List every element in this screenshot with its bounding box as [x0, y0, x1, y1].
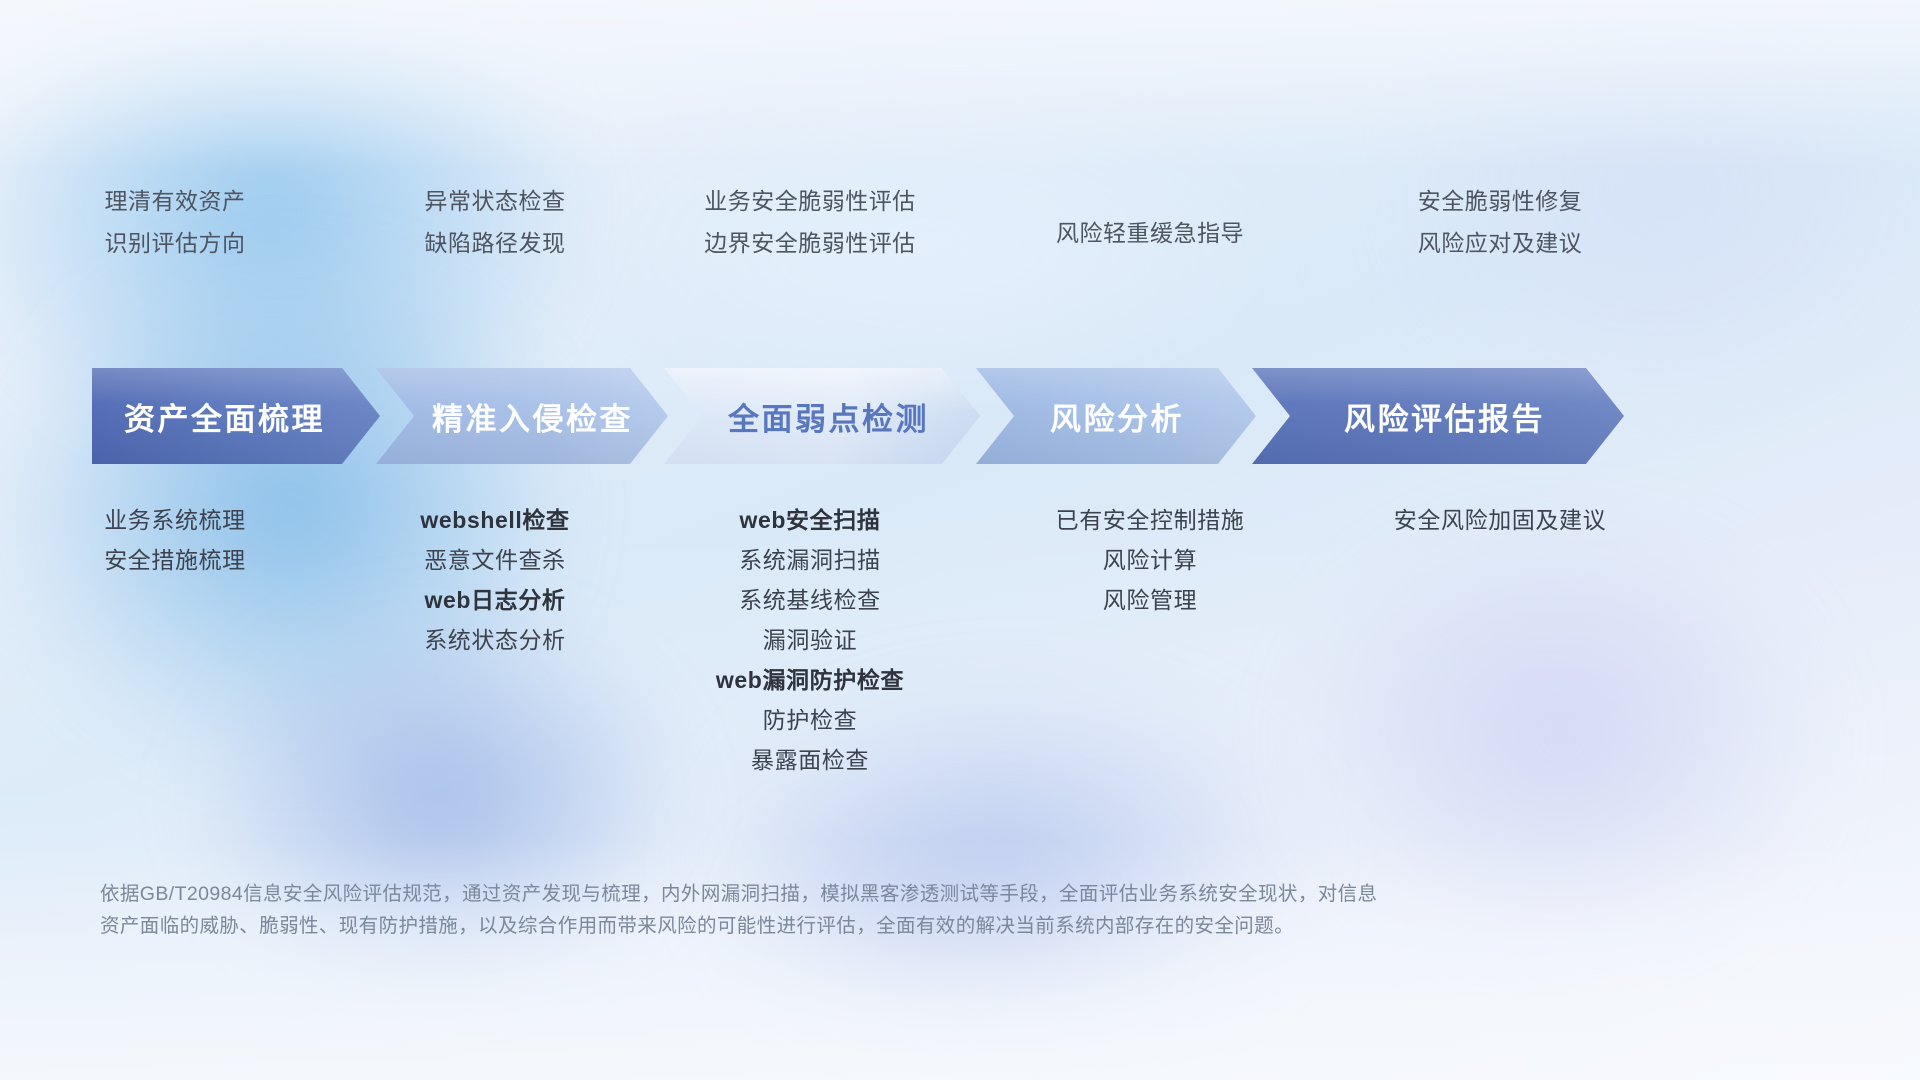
bottom-descriptor-line: 防护检查 [763, 700, 857, 740]
bottom-descriptor-line: 安全风险加固及建议 [1394, 500, 1606, 540]
bottom-descriptor-line: 安全措施梳理 [104, 540, 246, 580]
top-descriptors-stage-5: 安全脆弱性修复 风险应对及建议 [1320, 186, 1680, 258]
top-descriptors-stage-4: 风险轻重缓急指导 [980, 186, 1320, 258]
top-descriptor-line: 风险轻重缓急指导 [1056, 218, 1244, 248]
bottom-descriptors-stage-2: webshell检查 恶意文件查杀 web日志分析 系统状态分析 [350, 500, 640, 660]
stage-arrow-label: 资产全面梳理 [124, 394, 325, 439]
bottom-descriptor-line: webshell检查 [420, 500, 569, 540]
stage-arrow-4[interactable]: 风险分析 [976, 368, 1256, 464]
top-descriptors-stage-2: 异常状态检查 缺陷路径发现 [350, 186, 640, 258]
top-descriptor-line: 风险应对及建议 [1418, 228, 1583, 258]
top-descriptors-stage-3: 业务安全脆弱性评估 边界安全脆弱性评估 [640, 186, 980, 258]
bottom-descriptor-line: 系统漏洞扫描 [739, 540, 881, 580]
bottom-descriptor-line: 风险管理 [1103, 580, 1197, 620]
stage-arrow-label: 精准入侵检查 [432, 394, 633, 439]
top-descriptors-stage-1: 理清有效资产 识别评估方向 [0, 186, 350, 258]
stage-arrow-label: 全面弱点检测 [728, 394, 929, 439]
stage-arrow-label: 风险评估报告 [1344, 394, 1545, 439]
bottom-descriptor-line: web日志分析 [425, 580, 566, 620]
stage-arrow-1[interactable]: 资产全面梳理 [92, 368, 380, 464]
stage-arrow-label: 风险分析 [1050, 394, 1184, 439]
top-descriptor-line: 缺陷路径发现 [425, 228, 566, 258]
top-descriptor-line: 业务安全脆弱性评估 [704, 186, 916, 216]
top-descriptor-row: 理清有效资产 识别评估方向 异常状态检查 缺陷路径发现 业务安全脆弱性评估 边界… [0, 186, 1920, 258]
top-descriptor-line: 异常状态检查 [425, 186, 566, 216]
bottom-descriptors-stage-1: 业务系统梳理 安全措施梳理 [0, 500, 350, 580]
bottom-descriptor-line: 系统状态分析 [424, 620, 566, 660]
stage-arrow-2[interactable]: 精准入侵检查 [376, 368, 668, 464]
bottom-descriptor-line: 已有安全控制措施 [1056, 500, 1245, 540]
footer-description: 依据GB/T20984信息安全风险评估规范，通过资产发现与梳理，内外网漏洞扫描，… [100, 878, 1620, 942]
top-descriptor-line: 理清有效资产 [105, 186, 246, 216]
bottom-descriptor-line: 风险计算 [1103, 540, 1197, 580]
footer-line-1: 依据GB/T20984信息安全风险评估规范，通过资产发现与梳理，内外网漏洞扫描，… [100, 878, 1620, 910]
footer-line-2: 资产面临的威胁、脆弱性、现有防护措施，以及综合作用而带来风险的可能性进行评估，全… [100, 910, 1620, 942]
bottom-descriptor-line: web安全扫描 [740, 500, 881, 540]
bottom-descriptors-stage-5: 安全风险加固及建议 [1320, 500, 1680, 540]
top-descriptor-line: 边界安全脆弱性评估 [704, 228, 916, 258]
bottom-descriptor-line: 系统基线检查 [739, 580, 881, 620]
stage-arrow-5[interactable]: 风险评估报告 [1252, 368, 1624, 464]
bottom-descriptor-line: 业务系统梳理 [104, 500, 246, 540]
stage-arrow-band: 资产全面梳理 精准入侵检查 全面弱点检测 风险分析 风险评估报告 [0, 368, 1920, 464]
top-descriptor-line: 安全脆弱性修复 [1418, 186, 1583, 216]
bottom-descriptor-line: web漏洞防护检查 [716, 660, 904, 700]
bottom-descriptor-row: 业务系统梳理 安全措施梳理 webshell检查 恶意文件查杀 web日志分析 … [0, 500, 1920, 780]
process-diagram: 理清有效资产 识别评估方向 异常状态检查 缺陷路径发现 业务安全脆弱性评估 边界… [0, 0, 1920, 1080]
bottom-descriptors-stage-3: web安全扫描 系统漏洞扫描 系统基线检查 漏洞验证 web漏洞防护检查 防护检… [640, 500, 980, 780]
bottom-descriptor-line: 漏洞验证 [763, 620, 857, 660]
bottom-descriptors-stage-4: 已有安全控制措施 风险计算 风险管理 [980, 500, 1320, 620]
stage-arrow-3[interactable]: 全面弱点检测 [664, 368, 980, 464]
bottom-descriptor-line: 暴露面检查 [751, 740, 869, 780]
bottom-descriptor-line: 恶意文件查杀 [424, 540, 566, 580]
top-descriptor-line: 识别评估方向 [105, 228, 246, 258]
